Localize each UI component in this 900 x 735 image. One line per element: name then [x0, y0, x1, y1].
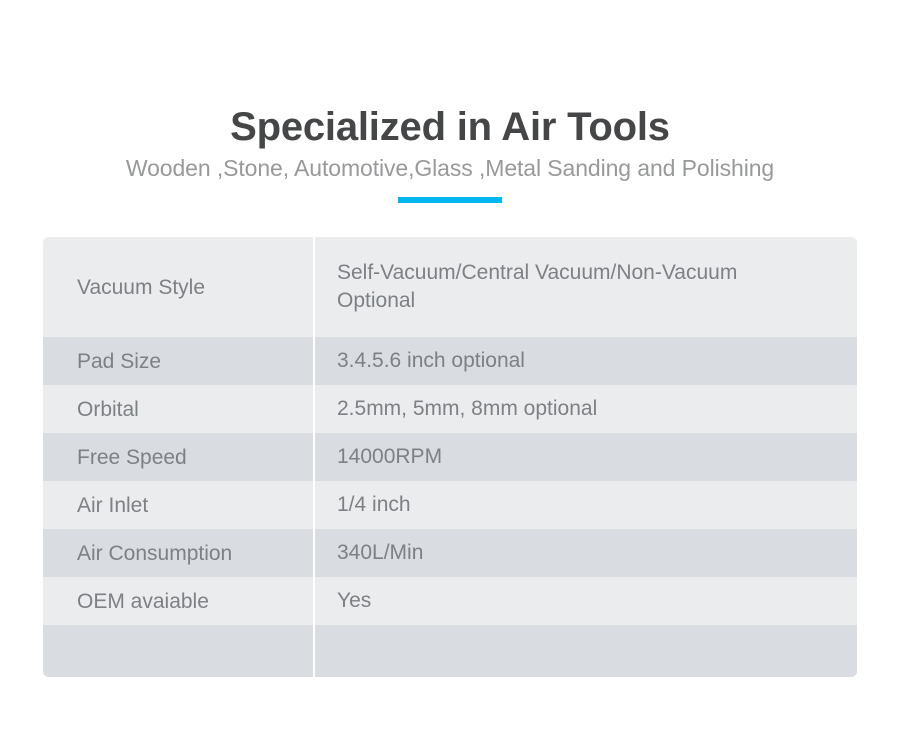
banner-header: Specialized in Air Tools Wooden ,Stone, … [0, 0, 900, 215]
table-row: Air Consumption 340L/Min [43, 529, 857, 577]
spec-value: Yes [315, 577, 857, 625]
spec-label: Free Speed [43, 433, 315, 481]
spec-value: 340L/Min [315, 529, 857, 577]
spec-label: Air Consumption [43, 529, 315, 577]
specification-table: Vacuum Style Self-Vacuum/Central Vacuum/… [43, 237, 857, 677]
spec-label: Pad Size [43, 337, 315, 385]
table-row: Air Inlet 1/4 inch [43, 481, 857, 529]
spec-value: Self-Vacuum/Central Vacuum/Non-Vacuum Op… [315, 237, 857, 337]
table-row [43, 625, 857, 677]
spec-value [315, 625, 857, 677]
spec-label: OEM avaiable [43, 577, 315, 625]
accent-underline-wrap [0, 183, 900, 215]
spec-label [43, 625, 315, 677]
table-row: Orbital 2.5mm, 5mm, 8mm optional [43, 385, 857, 433]
spec-label: Orbital [43, 385, 315, 433]
page-subtitle: Wooden ,Stone, Automotive,Glass ,Metal S… [0, 150, 900, 183]
spec-value: 1/4 inch [315, 481, 857, 529]
table-row: OEM avaiable Yes [43, 577, 857, 625]
spec-label: Vacuum Style [43, 237, 315, 337]
spec-value: 3.4.5.6 inch optional [315, 337, 857, 385]
table-row: Vacuum Style Self-Vacuum/Central Vacuum/… [43, 237, 857, 337]
table-row: Free Speed 14000RPM [43, 433, 857, 481]
table-row: Pad Size 3.4.5.6 inch optional [43, 337, 857, 385]
spec-label: Air Inlet [43, 481, 315, 529]
spec-value: 14000RPM [315, 433, 857, 481]
page-title: Specialized in Air Tools [0, 0, 900, 150]
product-spec-banner: Specialized in Air Tools Wooden ,Stone, … [0, 0, 900, 735]
spec-value: 2.5mm, 5mm, 8mm optional [315, 385, 857, 433]
accent-underline-bar [398, 197, 502, 203]
